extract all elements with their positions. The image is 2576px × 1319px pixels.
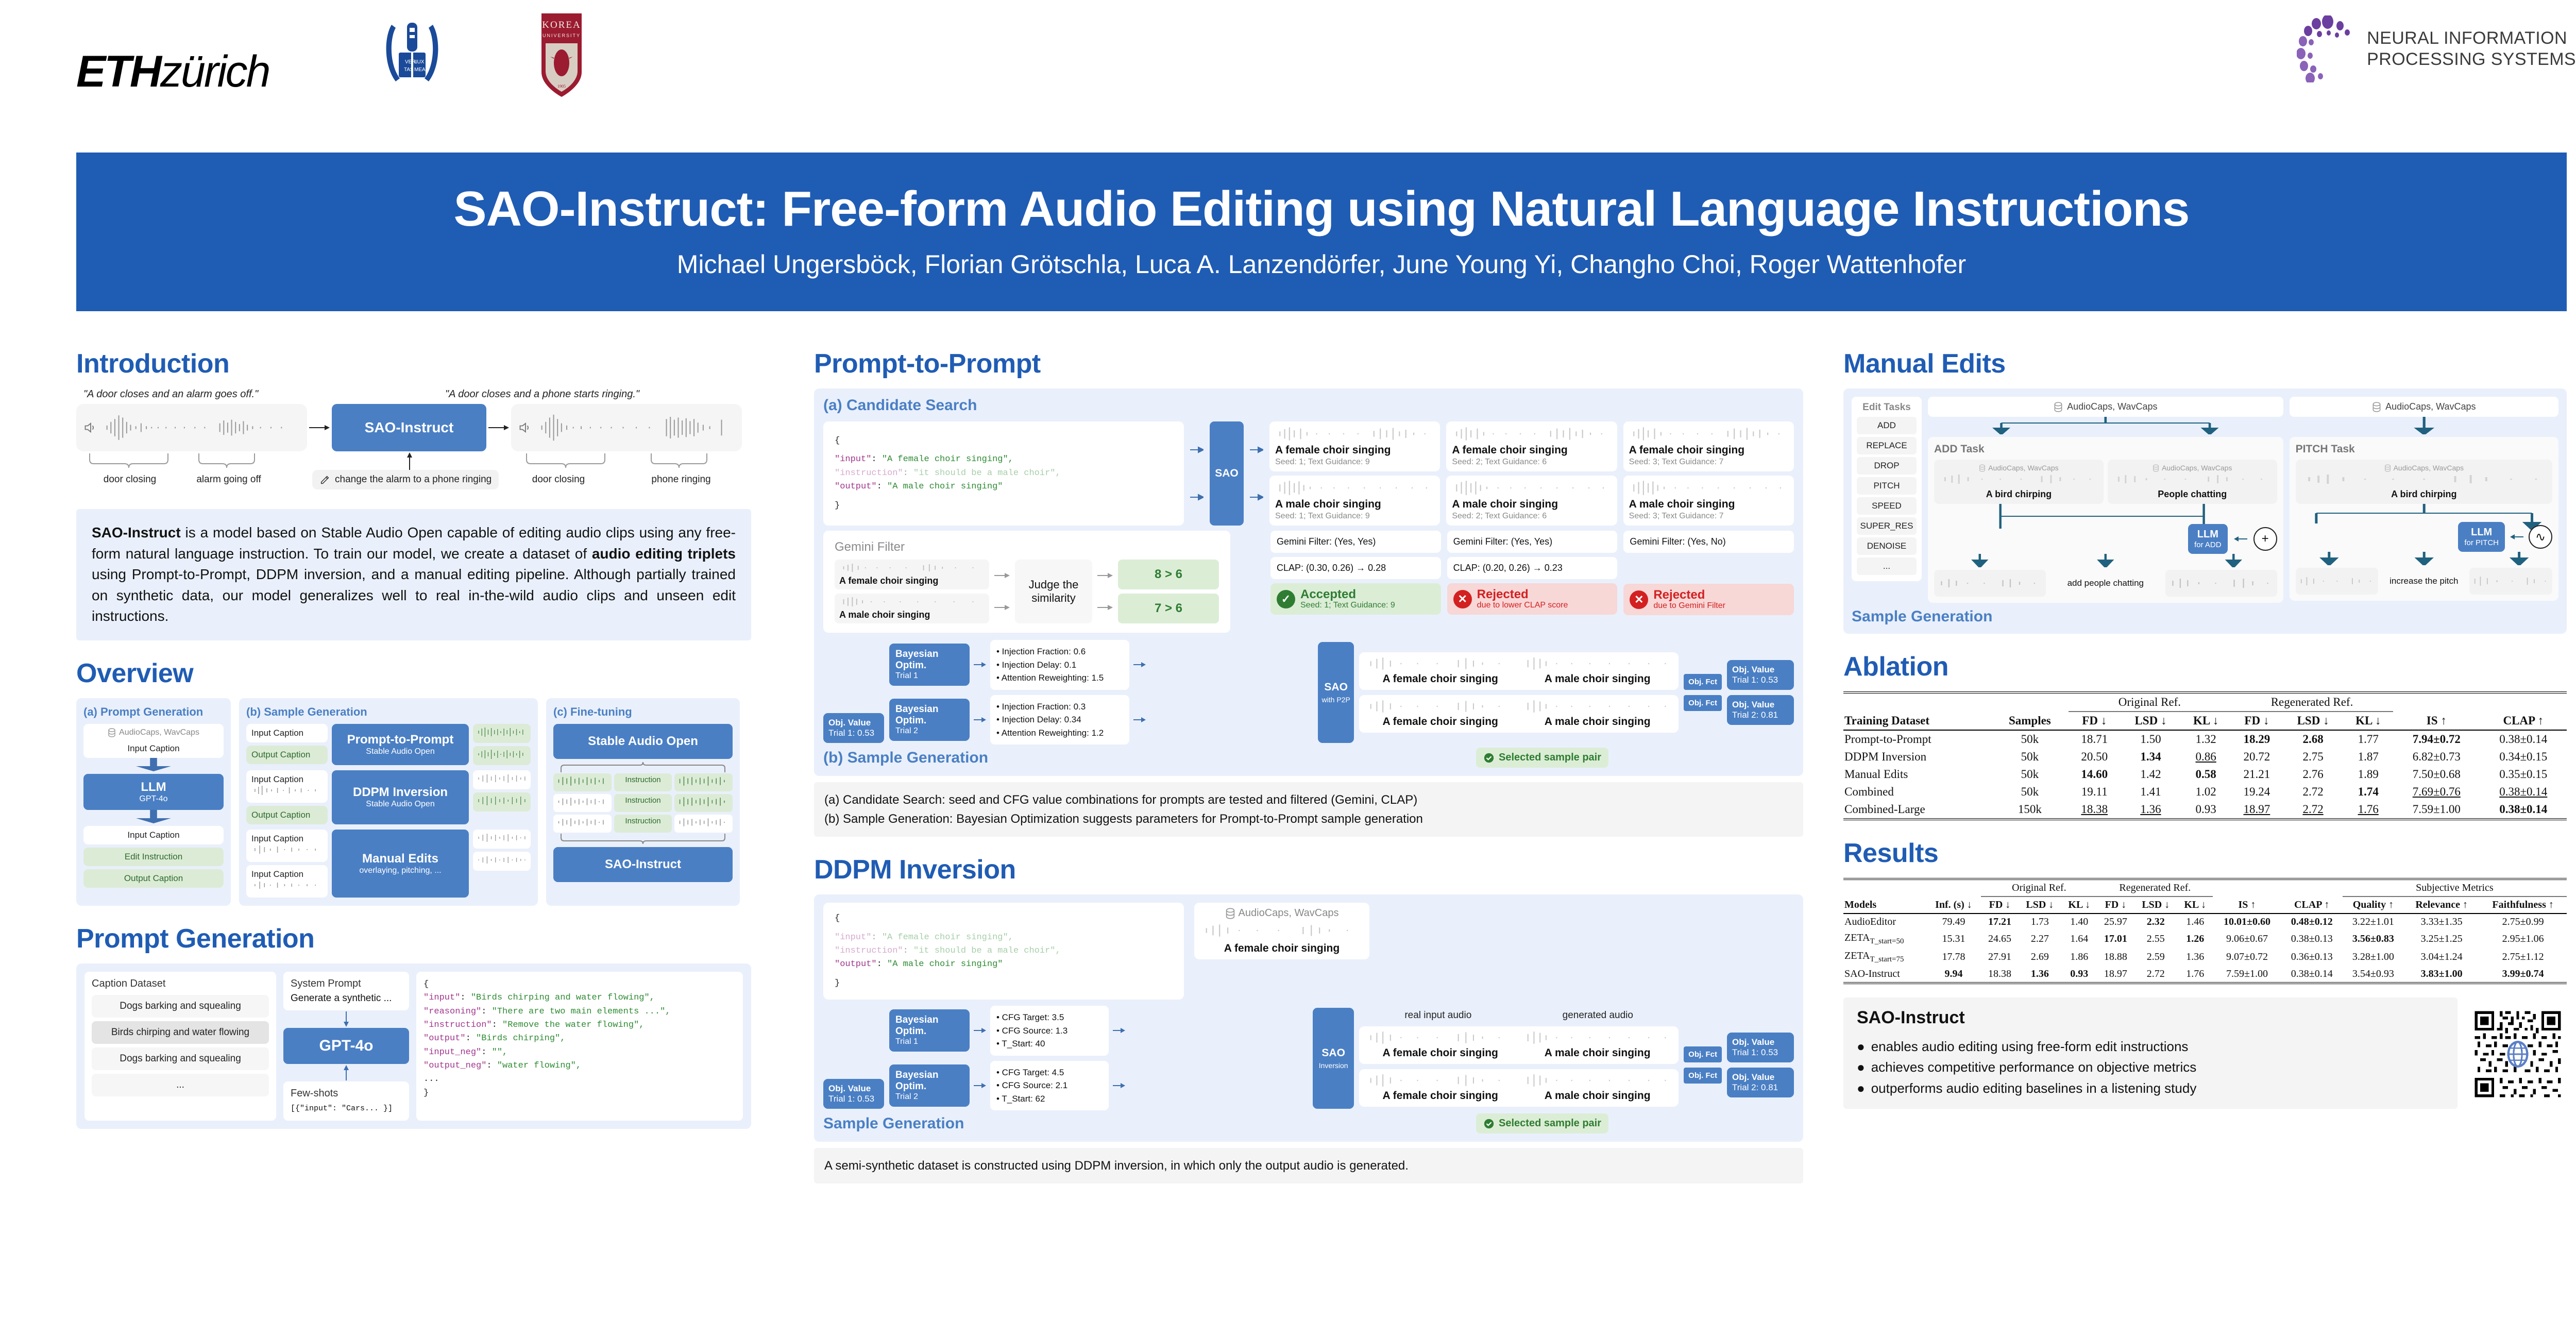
ablation-cell: 2.68 (2283, 730, 2344, 748)
database-icon-7 (2384, 464, 2391, 472)
results-cell: 3.99±0.74 (2479, 966, 2567, 983)
pg-json-key-2: "reasoning" (423, 1007, 481, 1017)
project-website-qr-code[interactable] (2469, 997, 2567, 1111)
results-cell: 27.91 (1981, 948, 2018, 966)
ablation-cell: 50k (1991, 766, 2069, 783)
p2p-sample-gen-row: Obj. Value Trial 1: 0.53 Bayesian Optim.… (823, 640, 1794, 745)
results-cell: 17.21 (1981, 914, 2018, 930)
overview-b-row3-wave-1 (251, 844, 323, 855)
results-table: Original Ref. Regenerated Ref. Subjectiv… (1843, 878, 2567, 984)
p2p-param-1-2: • Attention Reweighting: 1.2 (996, 726, 1123, 740)
caption-dataset-card: Caption Dataset Dogs barking and squeali… (84, 972, 276, 1121)
ddpm-selected-sample-pair: Selected sample pair (1476, 1113, 1608, 1134)
results-cell: 2.59 (2134, 948, 2177, 966)
p2p-cand1-male: A male choir singing Seed: 2; Text Guida… (1446, 476, 1617, 526)
p2p-caption-a: (a) Candidate Search: seed and CFG value… (824, 790, 1793, 809)
p2p-json-k1: "input" (835, 454, 871, 464)
overview-c-instruction-3: Instruction (614, 815, 672, 833)
arrow-icon-d1b (1113, 1083, 1125, 1089)
ablation-table-body: Prompt-to-Prompt50k18.711.501.3218.292.6… (1843, 730, 2567, 819)
p2p-selected-sample-pair: Selected sample pair (1476, 748, 1608, 768)
ddpm-brace-labels: real input audio generated audio (1359, 1010, 1679, 1021)
p2p-cand0-female-meta: Seed: 1; Text Guidance: 9 (1275, 458, 1434, 467)
svg-text:TAS: TAS (404, 67, 414, 73)
results-col-1: Inf. (s) ↓ (1926, 897, 1981, 914)
results-col-11: Relevance ↑ (2404, 897, 2479, 914)
ablation-group-regenerated-ref: Regenerated Ref. (2231, 692, 2393, 712)
edit-task-drop[interactable]: DROP (1857, 457, 1917, 475)
pg-json-line-0: { (423, 978, 736, 991)
ddpm-sample-gen-label: Sample Generation (823, 1115, 964, 1132)
overview-b-row2-out-wave-2 (473, 792, 531, 811)
summary-bullet-0-text: enables audio editing using free-form ed… (1871, 1036, 2189, 1057)
ddpm-objval-0-title: Obj. Value (1732, 1037, 1789, 1047)
p2p-candidate-0: A female choir singing Seed: 1; Text Gui… (1269, 421, 1440, 526)
edit-task-denoise[interactable]: DENOISE (1857, 537, 1917, 555)
introduction-paragraph: SAO-Instruct is a model based on Stable … (76, 509, 751, 640)
ddpm-bo-box-1: Bayesian Optim. Trial 2 (889, 1064, 970, 1107)
ablation-cell: 14.60 (2069, 766, 2121, 783)
ddpm-objval-0: Obj. Value Trial 1: 0.53 (1727, 1033, 1794, 1062)
p2p-param-0-1: • Injection Delay: 0.1 (996, 658, 1123, 672)
results-group-regenerated-ref: Regenerated Ref. (2097, 879, 2213, 897)
overview-b-row1-out-wave-1 (473, 724, 531, 743)
results-cell: 1.64 (2061, 930, 2097, 948)
p2p-param-1-1: • Injection Delay: 0.34 (996, 713, 1123, 726)
gpt4o-model-label: GPT-4o (286, 1037, 406, 1055)
p2p-gemini-result-2: Gemini Filter: (Yes, No) (1623, 531, 1794, 553)
results-cell: 1.46 (2177, 914, 2213, 930)
p2p-prev-obj-sub: Trial 1: 0.53 (828, 728, 879, 738)
results-cell: 1.26 (2177, 930, 2213, 948)
pitch-task-source-label: A bird chirping (2300, 489, 2548, 500)
results-row-name: AudioEditor (1843, 914, 1926, 930)
p2p-sample-gen-footer: (b) Sample Generation Selected sample pa… (823, 748, 1794, 768)
overview-b-row-2: Input Caption Output Caption DDPM Invers… (246, 770, 531, 824)
results-cell: 2.95±1.06 (2479, 930, 2567, 948)
ddpm-bo-title-0: Bayesian Optim. (895, 1014, 963, 1037)
add-task-source-b-db: AudioCaps, WavCaps (2162, 464, 2232, 472)
ddpm-out0-right: A male choir singing (1522, 1047, 1673, 1059)
p2p-cand1-male-title: A male choir singing (1452, 498, 1611, 511)
ablation-cell: 1.76 (2343, 801, 2393, 819)
poster-authors: Michael Ungersböck, Florian Grötschla, L… (677, 249, 1966, 279)
overview-b-row1-title: Prompt-to-Prompt (335, 733, 466, 747)
introduction-figure: "A door closes and an alarm goes off." "… (76, 388, 751, 502)
p2p-verdict-0-title: Accepted (1300, 588, 1395, 601)
ablation-row: Combined50k19.111.411.0219.242.721.747.6… (1843, 783, 2567, 801)
system-prompt-label: System Prompt (291, 978, 402, 990)
results-col-6: LSD ↓ (2134, 897, 2177, 914)
prompt-generation-figure: Caption Dataset Dogs barking and squeali… (76, 963, 751, 1129)
gemini-filter-item-b: A male choir singing (835, 594, 989, 623)
overview-panel-prompt-generation: (a) Prompt Generation AudioCaps, WavCaps… (76, 698, 231, 906)
overview-b-row-3: Input Caption Input Caption Manual Edits… (246, 830, 531, 898)
ablation-column-header-row: Training Dataset Samples FD ↓ LSD ↓ KL ↓… (1843, 712, 2567, 730)
arrow-right-pair-icon (1190, 427, 1204, 520)
system-prompt-value: Generate a synthetic ... (291, 993, 402, 1004)
p2p-sample-gen-label: (b) Sample Generation (823, 749, 988, 767)
ablation-row-name: Prompt-to-Prompt (1843, 730, 1991, 748)
overview-a-input-caption: Input Caption (89, 743, 218, 754)
results-col-3: LSD ↓ (2018, 897, 2061, 914)
overview-b-row3-out-wave-2 (473, 852, 531, 871)
edit-task-super-res[interactable]: SUPER_RES (1857, 517, 1917, 535)
ablation-cell: 1.36 (2121, 801, 2181, 819)
p2p-candidate-1: A female choir singing Seed: 2; Text Gui… (1446, 421, 1617, 526)
pitch-task-out-wave-1 (2296, 568, 2379, 595)
overview-c-triplet-row-1: Instruction (553, 773, 733, 791)
p2p-cand1-female: A female choir singing Seed: 2; Text Gui… (1446, 421, 1617, 471)
section-title-results: Results (1843, 840, 2567, 867)
results-cell: 3.54±0.93 (2343, 966, 2404, 983)
ablation-cell: 7.69±0.76 (2393, 783, 2480, 801)
brace-down-icon (558, 761, 728, 773)
ablation-col-3: LSD ↓ (2121, 712, 2181, 730)
overview-a-dataset-row: AudioCaps, WavCaps (89, 728, 218, 737)
section-title-introduction: Introduction (76, 350, 751, 377)
results-cell: 17.01 (2097, 930, 2134, 948)
pitch-task-llm-title: LLM (2464, 527, 2499, 538)
overview-a-llm-box: LLM GPT-4o (83, 774, 224, 810)
ddpm-output-pair-1: A female choir singing A male choir sing… (1359, 1069, 1679, 1107)
results-cell: 2.32 (2134, 914, 2177, 930)
p2p-trial-row-0: Bayesian Optim. Trial 1 • Injection Frac… (889, 640, 1313, 690)
p2p-figure-panel: (a) Candidate Search { "input": "A femal… (814, 388, 1803, 776)
left-column: Introduction "A door closes and an alarm… (76, 350, 751, 1129)
ddpm-trial-row-1: Bayesian Optim. Trial 2 • CFG Target: 4.… (889, 1061, 1308, 1111)
ddpm-json-k1: "input" (835, 933, 871, 942)
results-cell: 9.94 (1926, 966, 1981, 983)
edit-instruction-chip: change the alarm to a phone ringing (312, 470, 499, 489)
ddpm-sao-block: SAO Inversion (1313, 1008, 1354, 1109)
ddpm-param-0-2: • T_Start: 40 (996, 1037, 1103, 1051)
ablation-cell: 18.71 (2069, 730, 2121, 748)
summary-box: SAO-Instruct ●enables audio editing usin… (1843, 997, 2458, 1109)
overview-c-label: (c) Fine-tuning (553, 705, 733, 719)
add-task-split-arrows (1928, 417, 2283, 434)
p2p-arrow-in (1190, 421, 1204, 526)
overview-a-out-output: Output Caption (83, 869, 224, 888)
caption-item-3[interactable]: ... (92, 1074, 269, 1096)
ddpm-output-pair-0: A female choir singing A male choir sing… (1359, 1026, 1679, 1064)
speaker-icon (83, 420, 98, 435)
summary-bullet-1: ●achieves competitive performance on obj… (1857, 1057, 2444, 1077)
bullet-dot-icon-0: ● (1857, 1036, 1865, 1057)
p2p-objval-0: Obj. Value Trial 1: 0.53 (1727, 660, 1794, 690)
results-cell: 25.97 (2097, 914, 2134, 930)
arrow-icon-t1b (1133, 717, 1146, 723)
overview-c-top-box: Stable Audio Open (553, 724, 733, 759)
p2p-json-k3: "output" (835, 482, 877, 492)
arrow-up-icon-2 (342, 1065, 350, 1080)
section-title-ablation: Ablation (1843, 653, 2567, 680)
overview-a-out-input: Input Caption (83, 826, 224, 844)
pg-json-val-5: "", (492, 1047, 508, 1057)
pg-json-val-6: "water flowing", (497, 1061, 581, 1071)
results-col-5: FD ↓ (2097, 897, 2134, 914)
ddpm-sao-sub: Inversion (1319, 1061, 1348, 1070)
ablation-cell: 18.38 (2069, 801, 2121, 819)
ablation-cell: 0.86 (2181, 748, 2231, 766)
p2p-cand0-male-meta: Seed: 1; Text Guidance: 9 (1275, 512, 1434, 521)
arrow-icon-t0 (974, 662, 986, 668)
pitch-task-wrapper: AudioCaps, WavCaps PITCH Task AudioCaps,… (2290, 397, 2558, 601)
korea-university-seal-icon: VERI LUX TAS MEA (381, 14, 443, 92)
p2p-json-box: { "input": "A female choir singing", "in… (823, 421, 1184, 526)
gemini-filter-item-b-label: A male choir singing (839, 610, 985, 620)
brace-up-icon (558, 833, 728, 845)
intro-bold-1: SAO-Instruct (92, 525, 181, 540)
ablation-cell: 21.21 (2231, 766, 2283, 783)
arrow-down-icon-3 (342, 1011, 350, 1027)
pg-json-key-4: "output" (423, 1034, 466, 1043)
overview-c-bottom-box-label: SAO-Instruct (556, 857, 730, 872)
system-prompt-card: System Prompt Generate a synthetic ... (283, 972, 409, 1010)
results-table-body: AudioEditor79.4917.211.731.4025.972.321.… (1843, 914, 2567, 983)
results-col-2: FD ↓ (1981, 897, 2018, 914)
manual-edits-sample-gen-label: Sample Generation (1852, 608, 2558, 625)
pg-json-val-4: "Birds chirping", (476, 1034, 565, 1043)
results-cell: 7.59±1.00 (2213, 966, 2281, 983)
results-cell: 24.65 (1981, 930, 2018, 948)
ddpm-sample-gen-row: Obj. Value Trial 1: 0.53 Bayesian Optim.… (823, 1006, 1794, 1110)
edit-tasks-header: Edit Tasks (1857, 402, 1917, 413)
results-cell: 9.07±0.72 (2213, 948, 2281, 966)
pitch-task-output-arrows (2296, 552, 2552, 565)
pitch-task-instruction: increase the pitch (2382, 576, 2465, 586)
ablation-col-0: Training Dataset (1843, 712, 1991, 730)
results-cell: 3.22±1.01 (2343, 914, 2404, 930)
waveform-output (538, 413, 735, 442)
p2p-param-0-2: • Attention Reweighting: 1.5 (996, 671, 1123, 685)
results-cell: 18.38 (1981, 966, 2018, 983)
gemini-filter-box: Gemini Filter A female choir singing A m… (823, 531, 1230, 633)
intro-right-label-2: phone ringing (640, 474, 722, 485)
overview-b-row2-sub: Stable Audio Open (335, 800, 466, 809)
edit-task-add[interactable]: ADD (1857, 417, 1917, 434)
ddpm-json-l4: } (835, 977, 1173, 990)
overview-a-label: (a) Prompt Generation (83, 705, 224, 719)
neurips-line-1: NEURAL INFORMATION (2367, 28, 2576, 49)
overview-b-row3-method: Manual Edits overlaying, pitching, ... (332, 830, 469, 898)
p2p-prev-obj-value: Obj. Value Trial 1: 0.53 (823, 713, 884, 743)
ablation-cell: 0.34±0.15 (2480, 748, 2567, 766)
results-cell: 18.88 (2097, 948, 2134, 966)
ablation-row: DDPM Inversion50k20.501.340.8620.722.751… (1843, 748, 2567, 766)
p2p-cand2-male-meta: Seed: 3; Text Guidance: 7 (1629, 512, 1788, 521)
korea-university-shield-icon: KOREA UNIVERSITY 1905 (520, 11, 603, 99)
ddpm-bo-title-1: Bayesian Optim. (895, 1070, 963, 1092)
edit-task-speed[interactable]: SPEED (1857, 497, 1917, 515)
pitch-task-dataset-label: AudioCaps, WavCaps (2385, 401, 2476, 412)
ablation-col-7: KL ↓ (2343, 712, 2393, 730)
p2p-sg-sao-title: SAO (1324, 681, 1348, 694)
edit-task-replace[interactable]: REPLACE (1857, 437, 1917, 454)
results-cell: 9.06±0.67 (2213, 930, 2281, 948)
p2p-bo-title-1: Bayesian Optim. (895, 704, 963, 726)
ablation-row: Prompt-to-Prompt50k18.711.501.3218.292.6… (1843, 730, 2567, 748)
p2p-json-k2: "instruction" (835, 468, 903, 478)
ddpm-dataset-card: AudioCaps, WavCaps A female choir singin… (1194, 903, 1369, 959)
ddpm-dataset-row: AudioCaps, WavCaps (1200, 907, 1364, 919)
results-cell: 15.31 (1926, 930, 1981, 948)
check-circle-icon-2 (1483, 1118, 1495, 1129)
p2p-verdict-col-0: Gemini Filter: (Yes, Yes) CLAP: (0.30, 0… (1270, 531, 1441, 633)
ddpm-footer: Sample Generation Selected sample pair (823, 1113, 1794, 1134)
neurips-logo: NEURAL INFORMATION PROCESSING SYSTEMS (2297, 15, 2576, 82)
edit-task-more[interactable]: ... (1857, 557, 1917, 575)
brace-group-icon (88, 453, 747, 471)
fewshots-card: Few-shots [{"input": "Cars... }] (283, 1081, 409, 1121)
summary-title: SAO-Instruct (1857, 1008, 2444, 1028)
results-row: AudioEditor79.4917.211.731.4025.972.321.… (1843, 914, 2567, 930)
add-task-output-arrows (1934, 554, 2277, 567)
p2p-cand2-male-title: A male choir singing (1629, 498, 1788, 511)
p2p-gemini-result-1: Gemini Filter: (Yes, Yes) (1447, 531, 1618, 553)
arrow-icon-t1 (974, 717, 986, 723)
database-icon-3 (2054, 402, 2063, 412)
results-row-subscript: T_start=50 (1870, 937, 1904, 945)
p2p-out0-right: A male choir singing (1522, 673, 1673, 685)
ddpm-bo-sub-0: Trial 1 (895, 1037, 963, 1046)
overview-b-row2-title: DDPM Inversion (335, 785, 466, 800)
results-cell: 1.76 (2177, 966, 2213, 983)
edit-tasks-list: Edit Tasks ADD REPLACE DROP PITCH SPEED … (1852, 397, 1922, 581)
input-audio-box (76, 404, 307, 451)
section-title-prompt-generation: Prompt Generation (76, 925, 751, 952)
gemini-filter-score-b: 7 > 6 (1118, 594, 1219, 623)
overview-b-row1-input: Input Caption (246, 724, 328, 742)
p2p-params-1: • Injection Fraction: 0.3 • Injection De… (990, 695, 1129, 745)
p2p-clap-result-1: CLAP: (0.20, 0.26) → 0.23 (1447, 557, 1618, 579)
output-audio-box (511, 404, 742, 451)
add-task-llm-title: LLM (2194, 529, 2222, 540)
waveform-input (103, 413, 300, 442)
edit-task-pitch[interactable]: PITCH (1857, 477, 1917, 495)
results-cell: 0.48±0.12 (2281, 914, 2343, 930)
database-icon-4 (1979, 464, 1986, 472)
p2p-cand1-male-meta: Seed: 2; Text Guidance: 6 (1452, 512, 1611, 521)
sao-instruct-model-box: SAO-Instruct (332, 404, 486, 451)
ablation-col-4: KL ↓ (2181, 712, 2231, 730)
ablation-cell: 0.38±0.14 (2480, 801, 2567, 819)
add-task-source-a-label: A bird chirping (1938, 489, 2099, 500)
ablation-row-name: Combined-Large (1843, 801, 1991, 819)
results-row-name: ZETAT_start=75 (1843, 948, 1926, 966)
overview-c-triplet-grid: Instruction Instruction Instruction (553, 773, 733, 833)
p2p-json-v2: "it should be a male choir", (913, 468, 1061, 478)
p2p-arrow-out (1250, 421, 1263, 526)
overview-b-row3-wave-2 (251, 880, 323, 891)
title-banner: SAO-Instruct: Free-form Audio Editing us… (76, 153, 2567, 311)
results-row-name: ZETAT_start=50 (1843, 930, 1926, 948)
caption-item-1[interactable]: Birds chirping and water flowing (92, 1021, 269, 1044)
ablation-cell: 20.72 (2231, 748, 2283, 766)
ablation-col-5: FD ↓ (2231, 712, 2283, 730)
ablation-cell: 1.32 (2181, 730, 2231, 748)
caption-item-2[interactable]: Dogs barking and squealing (92, 1047, 269, 1070)
results-cell: 2.72 (2134, 966, 2177, 983)
caption-dataset-label: Caption Dataset (92, 978, 269, 990)
arrow-up-icon (406, 452, 413, 470)
arrow-right-icon (309, 424, 330, 432)
ddpm-objval-1-title: Obj. Value (1732, 1072, 1789, 1083)
overview-c-bottom-box: SAO-Instruct (553, 847, 733, 882)
overview-b-row1-out-wave-2 (473, 746, 531, 765)
ablation-cell: 50k (1991, 783, 2069, 801)
overview-b-row3-input-2: Input Caption (246, 865, 328, 898)
pg-json-val-2: "There are two main elements ...", (492, 1007, 671, 1017)
ablation-cell: 20.50 (2069, 748, 2121, 766)
add-task-instruction: add people chatting (2050, 578, 2162, 588)
p2p-param-0-0: • Injection Fraction: 0.6 (996, 645, 1123, 658)
results-cell: 3.04±1.24 (2404, 948, 2479, 966)
ablation-group-header-row: Original Ref. Regenerated Ref. (1843, 692, 2567, 712)
ddpm-brace-right-label: generated audio (1563, 1010, 1633, 1021)
ddpm-dataset-label: AudioCaps, WavCaps (1239, 907, 1339, 919)
p2p-cand1-female-title: A female choir singing (1452, 444, 1611, 456)
ddpm-param-0-0: • CFG Target: 3.5 (996, 1011, 1103, 1024)
p2p-sao-block: SAO (1210, 421, 1244, 526)
results-col-0: Models (1843, 897, 1926, 914)
add-task-dataset: AudioCaps, WavCaps (1928, 397, 2283, 417)
pitch-task-source: AudioCaps, WavCaps A bird chirping (2296, 460, 2552, 504)
globe-icon (2509, 1042, 2528, 1066)
pitch-task-out-wave-2 (2469, 568, 2552, 595)
prompt-generation-json-output: { "input": "Birds chirping and water flo… (416, 972, 743, 1121)
ddpm-prev-obj-value: Obj. Value Trial 1: 0.53 (823, 1079, 884, 1109)
p2p-sg-sao-sub: with P2P (1322, 696, 1350, 704)
p2p-verdict-1-title: Rejected (1477, 588, 1568, 601)
p2p-bo-box-1: Bayesian Optim. Trial 2 (889, 699, 970, 741)
results-cell: 0.93 (2061, 966, 2097, 983)
p2p-prev-obj-title: Obj. Value (828, 718, 879, 728)
ablation-cell: 1.02 (2181, 783, 2231, 801)
p2p-selected-label: Selected sample pair (1499, 752, 1601, 764)
bullet-dot-icon-1: ● (1857, 1057, 1865, 1077)
results-cell: 18.97 (2097, 966, 2134, 983)
caption-item-0[interactable]: Dogs barking and squealing (92, 995, 269, 1018)
summary-bullet-0: ●enables audio editing using free-form e… (1857, 1036, 2444, 1057)
ablation-cell: 2.76 (2283, 766, 2344, 783)
pitch-task-llm-sub: for PITCH (2464, 538, 2499, 547)
p2p-json-l0: { (835, 434, 1173, 448)
overview-b-row-1: Input Caption Output Caption Prompt-to-P… (246, 724, 531, 765)
section-title-overview: Overview (76, 660, 751, 687)
p2p-cand0-male-title: A male choir singing (1275, 498, 1434, 511)
ablation-cell: 7.59±1.00 (2393, 801, 2480, 819)
p2p-objval-1-sub: Trial 2: 0.81 (1732, 710, 1789, 720)
intro-right-label-1: door closing (517, 474, 600, 485)
gpt4o-model-box: GPT-4o (283, 1028, 409, 1064)
intro-text-2: using Prompt-to-Prompt, DDPM inversion, … (92, 566, 736, 624)
ddpm-params-1: • CFG Target: 4.5 • CFG Source: 2.1 • T_… (990, 1061, 1109, 1111)
results-group-header-row: Original Ref. Regenerated Ref. Subjectiv… (1843, 879, 2567, 897)
ablation-cell: 1.41 (2121, 783, 2181, 801)
manual-edits-figure: Edit Tasks ADD REPLACE DROP PITCH SPEED … (1843, 388, 2567, 634)
ddpm-out0-left: A female choir singing (1365, 1047, 1516, 1059)
add-task-panel: ADD Task AudioCaps, WavCaps A bird chirp… (1928, 437, 2283, 603)
gemini-filter-item-a: A female choir singing (835, 560, 989, 589)
p2p-verdict-0-sub: Seed: 1; Text Guidance: 9 (1300, 601, 1395, 610)
eth-zurich-logo: ETHzürich (76, 46, 269, 97)
p2p-verdict-1: ✕ Rejected due to lower CLAP score (1447, 583, 1618, 615)
ablation-cell: 1.42 (2121, 766, 2181, 783)
p2p-output-pair-1: A female choir singing A male choir sing… (1359, 695, 1679, 733)
p2p-verdict-0: ✓ Accepted Seed: 1; Text Guidance: 9 (1270, 583, 1441, 615)
pg-json-key-5: "input_neg" (423, 1047, 481, 1057)
